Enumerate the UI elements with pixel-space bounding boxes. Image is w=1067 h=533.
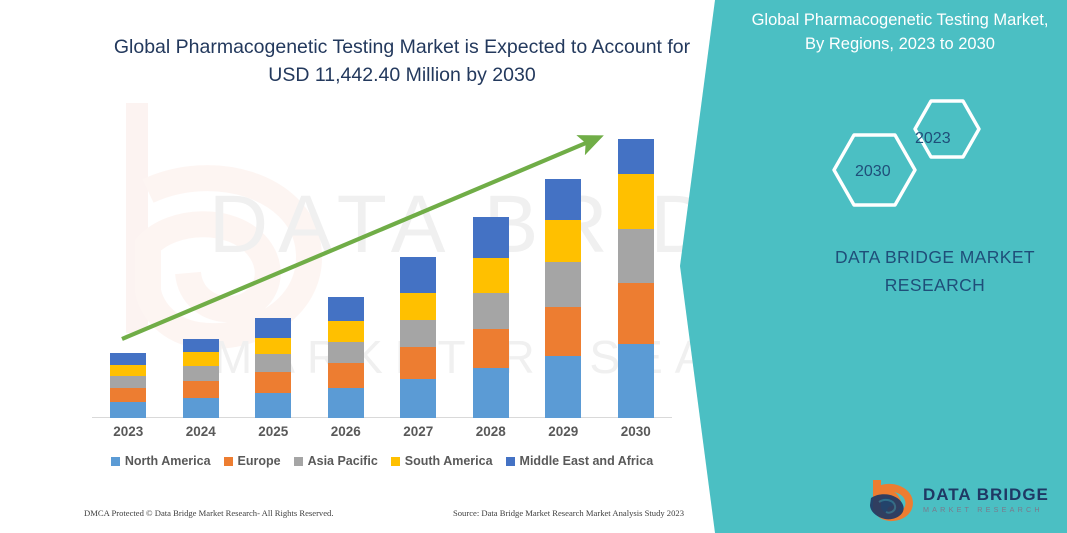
infographic-root: DATA BRIDGE MARKET RESEARCH Global Pharm… xyxy=(0,0,1067,533)
x-axis-label-2029: 2029 xyxy=(527,424,599,439)
logo-subtitle: MARKET RESEARCH xyxy=(923,504,1049,515)
footer-copyright: DMCA Protected © Data Bridge Market Rese… xyxy=(84,508,334,518)
brand-line-1: DATA BRIDGE MARKET xyxy=(795,243,1067,271)
bar-segment xyxy=(473,368,509,418)
legend-label: Middle East and Africa xyxy=(520,454,654,468)
legend-swatch-icon xyxy=(391,457,400,466)
company-logo: DATA BRIDGE MARKET RESEARCH xyxy=(865,478,1049,522)
bar-segment xyxy=(183,381,219,398)
x-axis-label-2028: 2028 xyxy=(455,424,527,439)
growth-trend-arrow-icon xyxy=(80,110,700,370)
legend-item-3[interactable]: South America xyxy=(391,454,493,468)
legend-item-0[interactable]: North America xyxy=(111,454,211,468)
legend-label: South America xyxy=(405,454,493,468)
x-axis-label-2025: 2025 xyxy=(237,424,309,439)
brand-line-2: RESEARCH xyxy=(795,271,1067,299)
data-bridge-mark-icon xyxy=(865,478,913,522)
x-axis-label-2024: 2024 xyxy=(165,424,237,439)
page-title: Global Pharmacogenetic Testing Market is… xyxy=(92,33,712,89)
legend-swatch-icon xyxy=(294,457,303,466)
legend-label: Europe xyxy=(238,454,281,468)
bar-segment xyxy=(110,376,146,388)
legend-swatch-icon xyxy=(111,457,120,466)
hexagon-label-2023: 2023 xyxy=(915,130,951,148)
x-axis-label-2026: 2026 xyxy=(310,424,382,439)
bar-segment xyxy=(400,379,436,418)
legend-item-1[interactable]: Europe xyxy=(224,454,281,468)
chart-legend: North AmericaEuropeAsia PacificSouth Ame… xyxy=(92,454,672,468)
legend-label: North America xyxy=(125,454,211,468)
bar-segment xyxy=(110,402,146,418)
x-axis-label-2027: 2027 xyxy=(382,424,454,439)
bar-segment xyxy=(255,372,291,393)
bar-segment xyxy=(328,388,364,418)
legend-item-2[interactable]: Asia Pacific xyxy=(294,454,378,468)
x-axis-label-2023: 2023 xyxy=(92,424,164,439)
legend-label: Asia Pacific xyxy=(308,454,378,468)
footer-source: Source: Data Bridge Market Research Mark… xyxy=(453,508,684,518)
legend-swatch-icon xyxy=(224,457,233,466)
bar-segment xyxy=(183,398,219,418)
x-axis-label-2030: 2030 xyxy=(600,424,672,439)
x-axis-labels: 20232024202520262027202820292030 xyxy=(92,424,672,446)
bar-segment xyxy=(110,388,146,402)
footer: DMCA Protected © Data Bridge Market Rese… xyxy=(84,508,684,518)
hexagon-badges-icon xyxy=(818,96,998,211)
bar-segment xyxy=(255,393,291,418)
legend-item-4[interactable]: Middle East and Africa xyxy=(506,454,654,468)
side-panel-title: Global Pharmacogenetic Testing Market, B… xyxy=(745,8,1055,56)
side-panel-brand: DATA BRIDGE MARKET RESEARCH xyxy=(795,243,1067,299)
hexagon-label-2030: 2030 xyxy=(855,163,891,181)
logo-name: DATA BRIDGE xyxy=(923,485,1049,504)
legend-swatch-icon xyxy=(506,457,515,466)
